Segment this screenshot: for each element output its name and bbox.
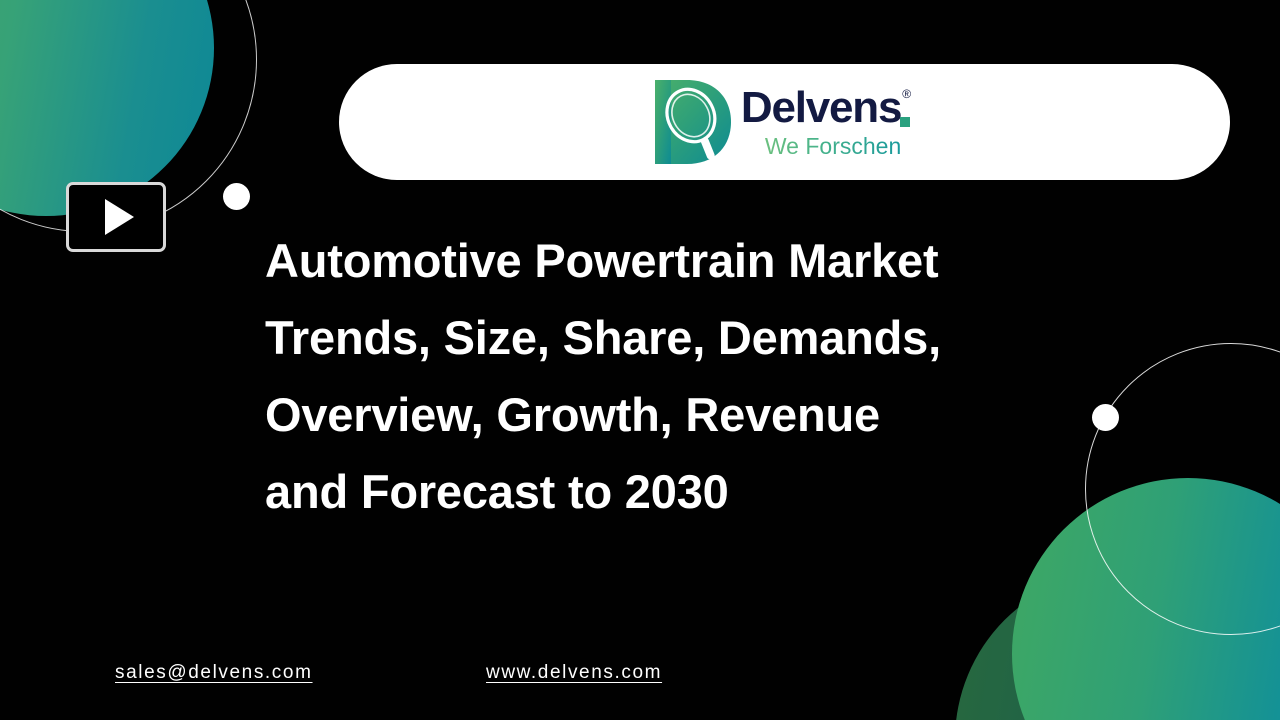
logo-period-square-icon xyxy=(900,117,910,127)
play-triangle-icon xyxy=(105,199,134,235)
footer-website-link[interactable]: www.delvens.com xyxy=(486,662,662,684)
footer-email-link[interactable]: sales@delvens.com xyxy=(115,662,313,684)
delvens-tagline: We Forschen xyxy=(765,135,901,158)
slide-title-line-4: and Forecast to 2030 xyxy=(265,453,1125,530)
play-button[interactable] xyxy=(66,182,166,252)
delvens-magnifier-d-mark-icon xyxy=(647,76,735,168)
delvens-logo-lockup: Delvens ® We Forschen xyxy=(647,76,910,168)
delvens-logo-text: Delvens ® We Forschen xyxy=(741,86,910,158)
logo-banner: Delvens ® We Forschen xyxy=(339,64,1230,180)
delvens-wordmark: Delvens xyxy=(741,86,901,130)
top-left-ring-dot xyxy=(223,183,250,210)
bottom-right-gradient-circle-back xyxy=(955,570,1280,720)
slide-title: Automotive Powertrain Market Trends, Siz… xyxy=(265,222,1125,530)
slide-title-line-1: Automotive Powertrain Market xyxy=(265,222,1125,299)
registered-trademark-icon: ® xyxy=(902,88,911,100)
presentation-slide: Delvens ® We Forschen Automotive Powertr… xyxy=(0,0,1280,720)
slide-title-line-3: Overview, Growth, Revenue xyxy=(265,376,1125,453)
delvens-wordmark-row: Delvens ® xyxy=(741,86,910,130)
slide-title-line-2: Trends, Size, Share, Demands, xyxy=(265,299,1125,376)
